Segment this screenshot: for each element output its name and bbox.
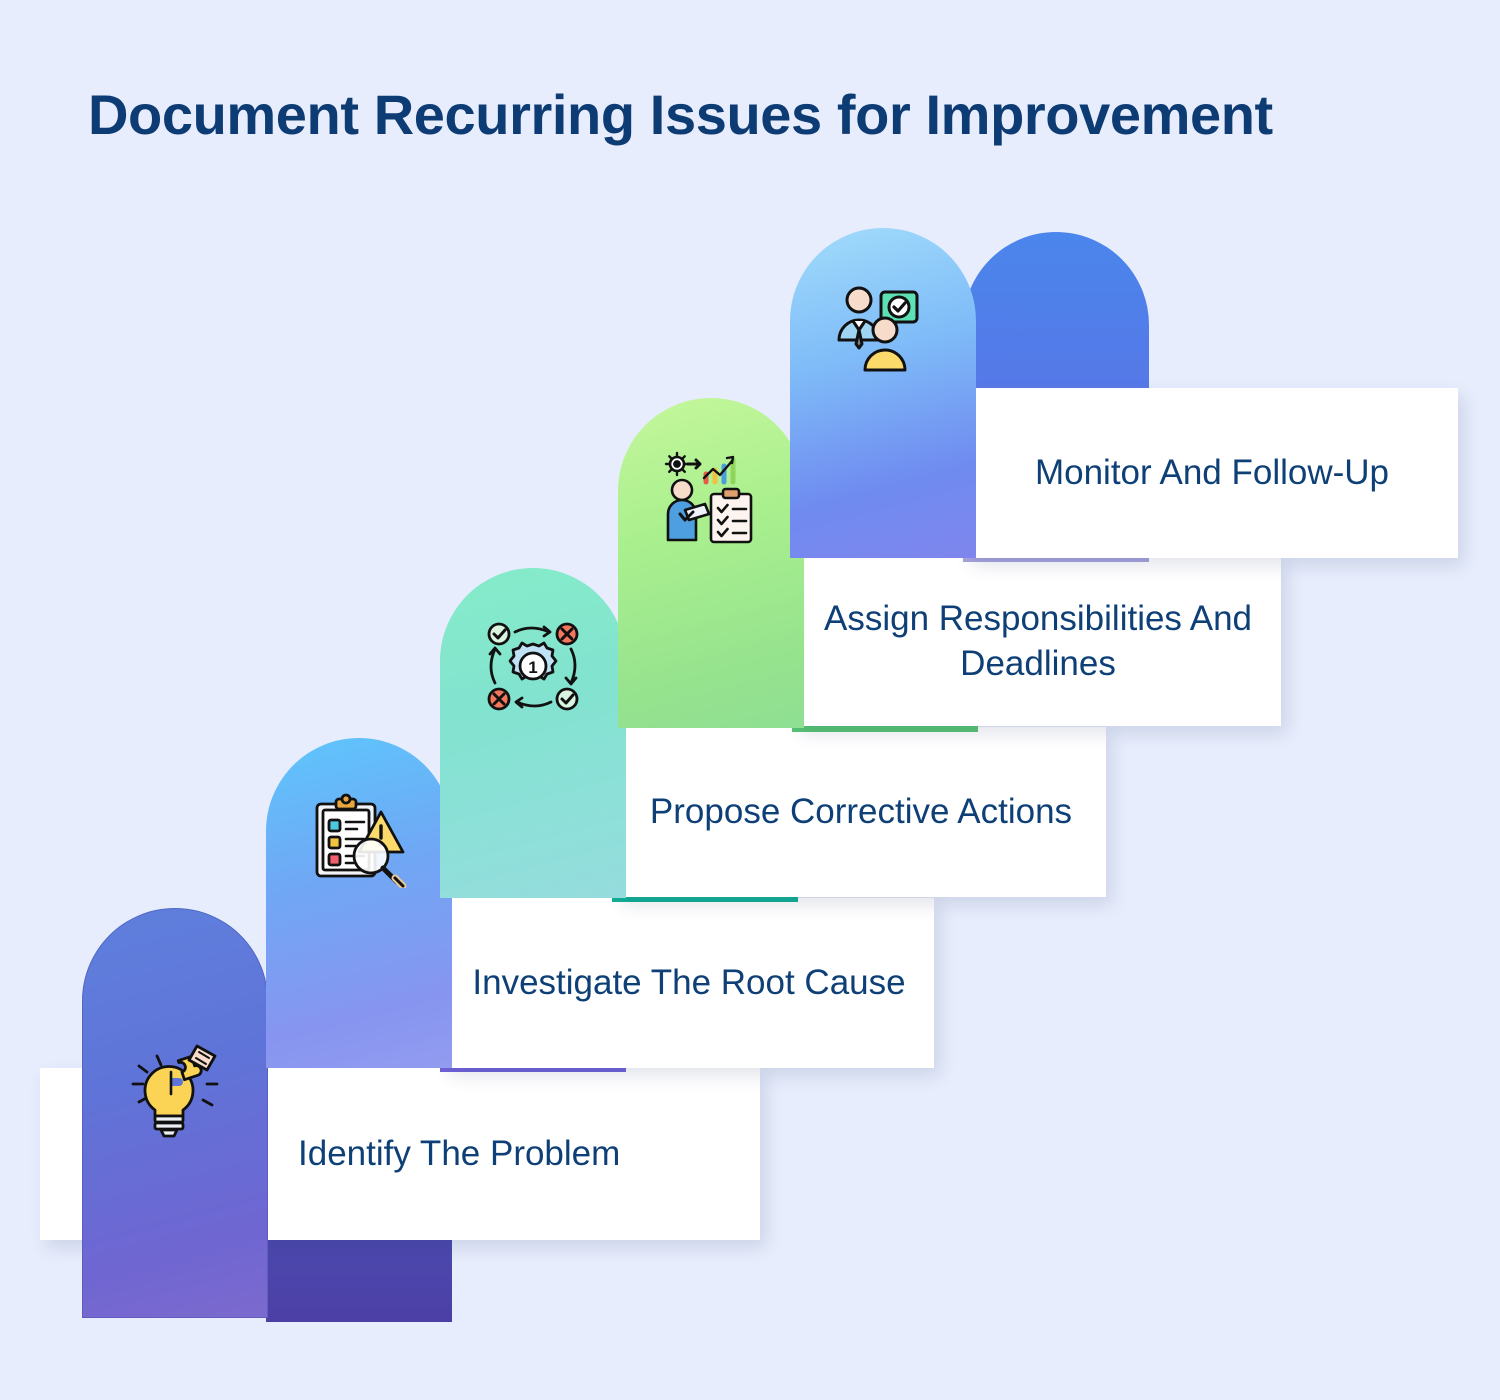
step-5-arch-front	[790, 228, 976, 558]
svg-text:1: 1	[528, 658, 537, 677]
step-4-arch-front	[618, 398, 804, 728]
step-1-arch-front	[82, 908, 268, 1318]
step-3-card-label: Propose Corrective Actions	[624, 790, 1098, 835]
step-4-card[interactable]: Assign Responsibilities And Deadlines	[795, 558, 1281, 726]
step-4-card-label: Assign Responsibilities And Deadlines	[795, 597, 1281, 687]
infographic-stage: Document Recurring Issues for Improvemen…	[0, 0, 1500, 1400]
step-3-card[interactable]: Propose Corrective Actions	[616, 727, 1106, 897]
step-2-card-label: Investigate The Root Cause	[446, 961, 931, 1006]
step-5-card[interactable]: Monitor And Follow-Up	[966, 388, 1458, 558]
cycle-gear-check-icon: 1	[483, 616, 583, 716]
clipboard-warning-search-icon	[309, 788, 409, 888]
lightbulb-puzzle-icon	[125, 1038, 225, 1138]
step-2-card[interactable]: Investigate The Root Cause	[444, 898, 934, 1068]
step-2-arch-front	[266, 738, 452, 1068]
page-title: Document Recurring Issues for Improvemen…	[88, 82, 1273, 147]
step-5-card-label: Monitor And Follow-Up	[1009, 451, 1415, 496]
step-3-arch-front: 1	[440, 568, 626, 898]
two-people-check-bubble-icon	[833, 278, 933, 378]
person-gear-chart-checklist-icon	[661, 448, 761, 548]
